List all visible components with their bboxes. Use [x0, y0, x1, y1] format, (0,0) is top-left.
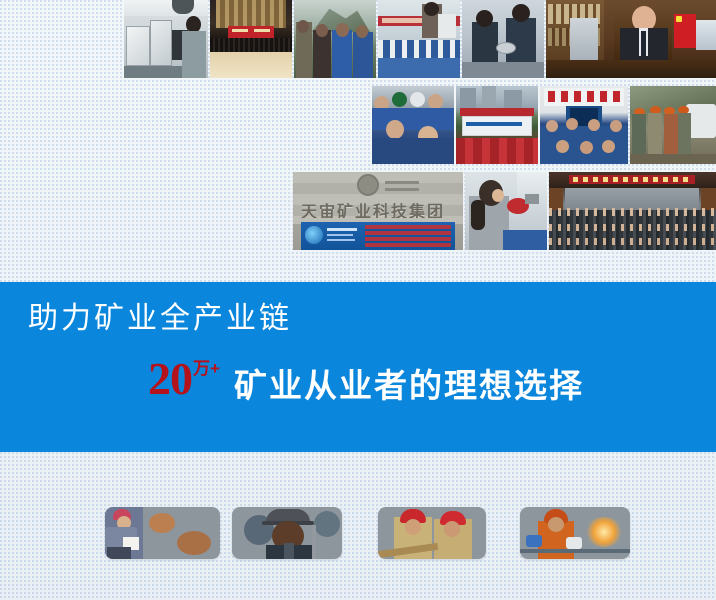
thumbnail-smiling-miner-with-helmet[interactable] [232, 507, 342, 559]
photo-large-conference-group-photo [549, 172, 716, 250]
photo-executive-portrait-at-desk-with-flag [546, 0, 716, 78]
photo-mine-entrance-staff-lineup [540, 86, 628, 164]
signage-text: 天宙矿业科技集团 [301, 198, 455, 218]
thumbnail-two-women-miners-in-red-helmets[interactable] [378, 507, 486, 559]
thumbnail-smelter-worker-at-furnace[interactable] [520, 507, 630, 559]
headline-line-1: 助力矿业全产业链 [28, 304, 292, 334]
photo-woman-handling-red-cloth-sample [465, 172, 547, 250]
promo-banner-page: 天宙矿业科技集团 [0, 0, 716, 600]
photo-four-miners-outdoors-mountain [294, 0, 376, 78]
photo-company-signage-wall: 天宙矿业科技集团 [293, 172, 463, 250]
photo-worker-at-flotation-cells [378, 0, 460, 78]
thumbnail-geologist-taking-notes-at-outcrop[interactable] [105, 507, 220, 559]
photo-two-technicians-with-sample-pan [462, 0, 544, 78]
photo-helmeted-crew-beside-van [630, 86, 716, 164]
photo-conference-hall-group-ceremony [210, 0, 292, 78]
photo-lab-technician-at-equipment [124, 0, 208, 78]
photo-collage: 天宙矿业科技集团 [0, 0, 716, 262]
headline-number: 20 [148, 358, 192, 400]
photo-outdoor-banner-ceremony-team [456, 86, 538, 164]
headline-banner: 助力矿业全产业链 20 万+ 矿业从业者的理想选择 [0, 282, 716, 452]
thumbnail-strip [0, 505, 716, 565]
headline-line-2-text: 矿业从业者的理想选择 [234, 369, 584, 402]
photo-blue-uniform-workers-group-photo [372, 86, 454, 164]
headline-number-suffix: 万+ [193, 360, 220, 377]
headline-line-2: 20 万+ 矿业从业者的理想选择 [148, 358, 584, 400]
